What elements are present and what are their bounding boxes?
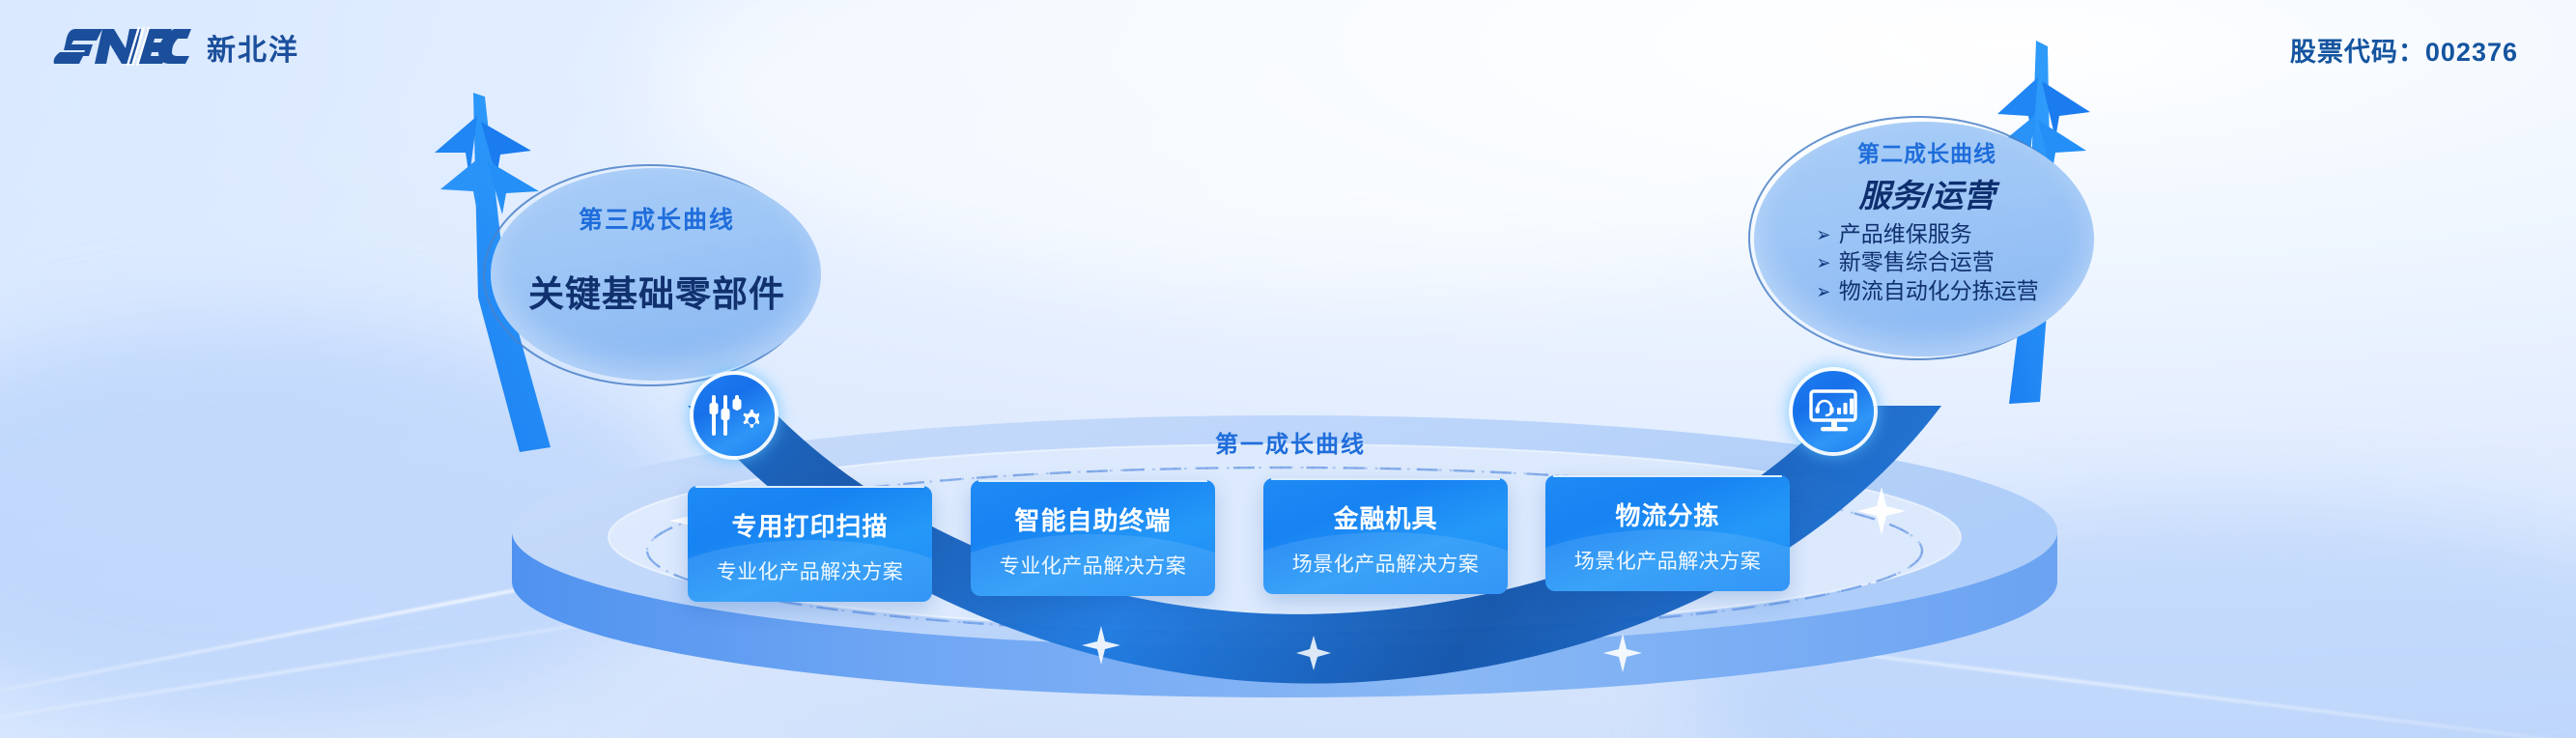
second-curve-subtitle: 第二成长曲线: [1857, 135, 1996, 168]
list-item: ➢物流自动化分拣运营: [1815, 277, 2039, 305]
card-top-highlight: [695, 486, 924, 488]
second-curve-title: 服务/运营: [1858, 170, 1995, 216]
stock-code-label: 股票代码：002376: [2290, 31, 2518, 69]
brand-name-cn: 新北洋: [207, 26, 299, 69]
list-item-label: 新零售综合运营: [1839, 249, 1995, 274]
list-item-label: 物流自动化分拣运营: [1839, 278, 2039, 303]
monitor-headset-chart-icon: [1808, 388, 1858, 435]
product-card[interactable]: 物流分拣 场景化产品解决方案: [1545, 475, 1790, 591]
arrow-bullet-icon: ➢: [1817, 251, 1831, 276]
card-title: 物流分拣: [1545, 497, 1790, 532]
infographic-canvas: 新北洋 股票代码：002376: [0, 0, 2576, 738]
card-subtitle: 场景化产品解决方案: [1545, 546, 1790, 575]
product-card[interactable]: 智能自助终端 专业化产品解决方案: [971, 480, 1215, 596]
card-subtitle: 场景化产品解决方案: [1263, 549, 1508, 578]
second-growth-curve-bubble[interactable]: 第二成长曲线 服务/运营 ➢产品维保服务 ➢新零售综合运营 ➢物流自动化分拣运营: [1748, 116, 2106, 362]
card-top-highlight: [1553, 475, 1782, 477]
third-growth-curve-bubble[interactable]: 第三成长曲线 关键基础零部件: [483, 164, 831, 386]
arrow-bullet-icon: ➢: [1817, 223, 1831, 248]
sliders-gear-icon: [709, 393, 759, 438]
card-subtitle: 专业化产品解决方案: [688, 556, 932, 585]
first-curve-label: 第一成长曲线: [1215, 425, 1366, 459]
second-curve-list: ➢产品维保服务 ➢新零售综合运营 ➢物流自动化分拣运营: [1815, 220, 2039, 305]
card-title: 金融机具: [1263, 499, 1508, 535]
third-curve-title: 关键基础零部件: [528, 265, 785, 317]
card-title: 智能自助终端: [971, 501, 1215, 537]
snbc-logomark-icon: [46, 21, 191, 73]
card-title: 专用打印扫描: [688, 507, 932, 543]
card-subtitle: 专业化产品解决方案: [971, 551, 1215, 580]
arrow-bullet-icon: ➢: [1817, 280, 1831, 305]
third-curve-node[interactable]: [694, 375, 775, 456]
bubble-text: 第三成长曲线 关键基础零部件: [483, 164, 831, 386]
third-curve-subtitle: 第三成长曲线: [579, 201, 735, 236]
second-curve-node[interactable]: [1793, 371, 1874, 452]
brand-logo: 新北洋: [46, 21, 299, 73]
list-item-label: 产品维保服务: [1839, 221, 1972, 246]
product-card[interactable]: 专用打印扫描 专业化产品解决方案: [688, 486, 932, 602]
list-item: ➢新零售综合运营: [1815, 248, 2039, 276]
bubble-text: 第二成长曲线 服务/运营 ➢产品维保服务 ➢新零售综合运营 ➢物流自动化分拣运营: [1748, 116, 2106, 362]
card-top-highlight: [1271, 478, 1500, 480]
list-item: ➢产品维保服务: [1815, 220, 2039, 248]
card-top-highlight: [978, 480, 1207, 482]
product-card[interactable]: 金融机具 场景化产品解决方案: [1263, 478, 1508, 594]
